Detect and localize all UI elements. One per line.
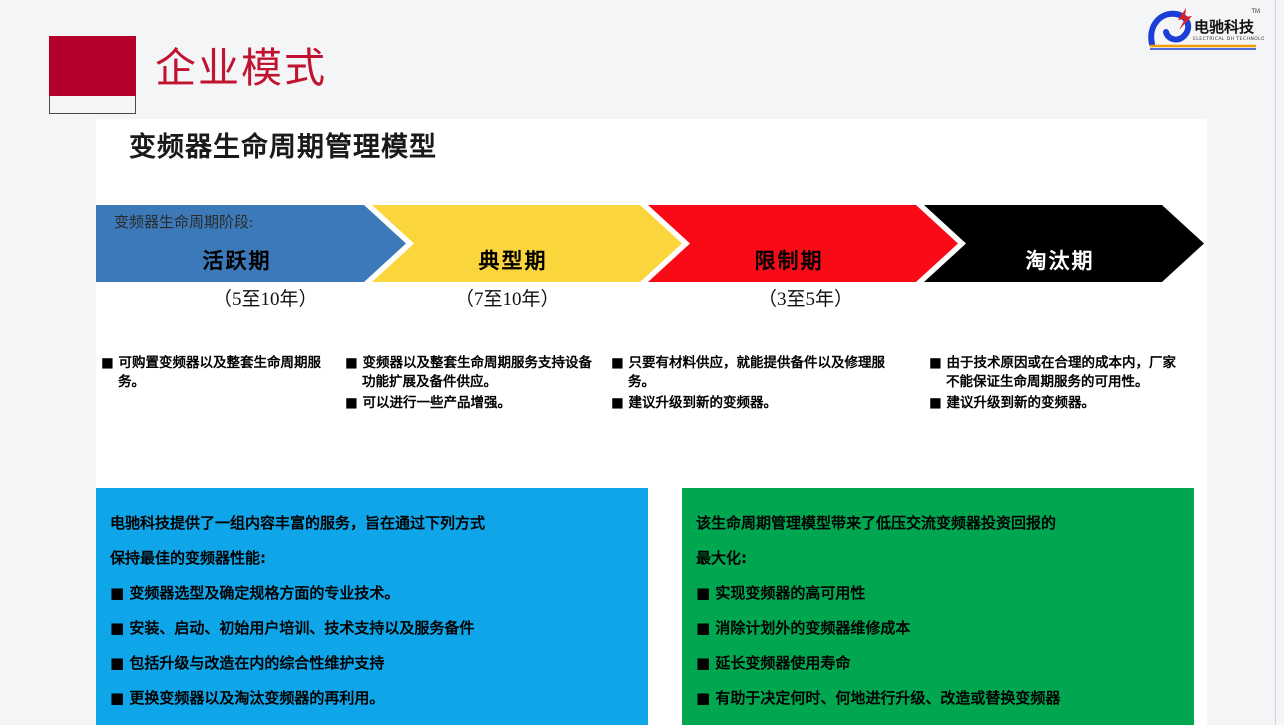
stage-label-active: 活跃期 <box>203 245 272 282</box>
stage-duration-row: （5至10年） （7至10年） （3至5年） <box>96 284 1207 314</box>
services-panel-lead-line2: 保持最佳的变频器性能: <box>110 541 634 576</box>
note-item: ■ 变频器以及整套生命周期服务支持设备功能扩展及备件供应。 <box>345 354 593 392</box>
company-logo-mark: 电驰科技 ELECTRICAL DH TECHNOLOGY <box>1142 4 1264 52</box>
chevron-bar-caption: 变频器生命周期阶段: <box>114 211 253 232</box>
card-title: 变频器生命周期管理模型 <box>129 125 437 164</box>
stage-notes-limited: ■ 只要有材料供应，就能提供备件以及修理服务。 ■ 建议升级到新的变频器。 <box>611 354 901 415</box>
slide-canvas: 企业模式 电驰科技 ELECTRICAL DH TECHNOLOGY TM 变频… <box>0 0 1284 725</box>
services-panel-item: ■ 变频器选型及确定规格方面的专业技术。 <box>110 576 634 611</box>
services-panel-item: ■ 包括升级与改造在内的综合性维护支持 <box>110 646 634 681</box>
red-book-badge-fill <box>49 36 136 96</box>
lifecycle-chevron-bar: 活跃期 典型期 限制期 淘汰期 变频器生命周期阶段: <box>96 205 1207 282</box>
page-title: 企业模式 <box>155 40 327 96</box>
stage-duration-limited: （3至5年） <box>758 284 853 311</box>
services-panel-item: ■ 安装、启动、初始用户培训、技术支持以及服务备件 <box>110 611 634 646</box>
stage-notes-active: ■ 可购置变频器以及整套生命周期服务。 <box>101 354 341 394</box>
services-panel-lead-line1: 电驰科技提供了一组内容丰富的服务，旨在通过下列方式 <box>110 506 634 541</box>
benefits-panel-lead-line2: 最大化: <box>696 541 1180 576</box>
stage-label-obsolete: 淘汰期 <box>1026 245 1095 282</box>
svg-text:ELECTRICAL DH TECHNOLOGY: ELECTRICAL DH TECHNOLOGY <box>1193 36 1264 42</box>
company-logo: 电驰科技 ELECTRICAL DH TECHNOLOGY TM <box>1142 4 1264 52</box>
benefits-panel: 该生命周期管理模型带来了低压交流变频器投资回报的 最大化: ■ 实现变频器的高可… <box>682 488 1194 725</box>
stage-label-limited: 限制期 <box>755 245 824 282</box>
note-item: ■ 可以进行一些产品增强。 <box>345 394 593 413</box>
stage-chevron-obsolete[interactable]: 淘汰期 <box>924 205 1204 282</box>
stage-notes-classic: ■ 变频器以及整套生命周期服务支持设备功能扩展及备件供应。 ■ 可以进行一些产品… <box>345 354 593 415</box>
stage-chevron-classic[interactable]: 典型期 <box>372 205 682 282</box>
svg-text:电驰科技: 电驰科技 <box>1194 18 1255 36</box>
benefits-panel-item: ■ 实现变频器的高可用性 <box>696 576 1180 611</box>
note-item: ■ 由于技术原因或在合理的成本内，厂家不能保证生命周期服务的可用性。 <box>929 354 1181 392</box>
content-card: 变频器生命周期管理模型 活跃期 典型期 限制期 淘汰期 变频器生命周期阶段: （… <box>96 119 1207 725</box>
note-item: ■ 只要有材料供应，就能提供备件以及修理服务。 <box>611 354 901 392</box>
stage-duration-active: （5至10年） <box>213 284 318 311</box>
stage-notes-obsolete: ■ 由于技术原因或在合理的成本内，厂家不能保证生命周期服务的可用性。 ■ 建议升… <box>929 354 1181 415</box>
benefits-panel-item: ■ 有助于决定何时、何地进行升级、改造或替换变频器 <box>696 681 1180 716</box>
benefits-panel-lead-line1: 该生命周期管理模型带来了低压交流变频器投资回报的 <box>696 506 1180 541</box>
stage-label-classic: 典型期 <box>479 245 548 282</box>
stage-notes-row: ■ 可购置变频器以及整套生命周期服务。 ■ 变频器以及整套生命周期服务支持设备功… <box>96 354 1207 474</box>
note-item: ■ 可购置变频器以及整套生命周期服务。 <box>101 354 341 392</box>
red-book-badge <box>49 36 136 114</box>
stage-chevron-limited[interactable]: 限制期 <box>648 205 958 282</box>
benefits-panel-item: ■ 消除计划外的变频器维修成本 <box>696 611 1180 646</box>
note-item: ■ 建议升级到新的变频器。 <box>929 394 1181 413</box>
services-panel: 电驰科技提供了一组内容丰富的服务，旨在通过下列方式 保持最佳的变频器性能: ■ … <box>96 488 648 725</box>
note-item: ■ 建议升级到新的变频器。 <box>611 394 901 413</box>
services-panel-item: ■ 更换变频器以及淘汰变频器的再利用。 <box>110 681 634 716</box>
benefits-panel-item: ■ 延长变频器使用寿命 <box>696 646 1180 681</box>
trademark-icon: TM <box>1251 9 1260 15</box>
page-gutter <box>1275 0 1284 725</box>
stage-duration-classic: （7至10年） <box>455 284 560 311</box>
